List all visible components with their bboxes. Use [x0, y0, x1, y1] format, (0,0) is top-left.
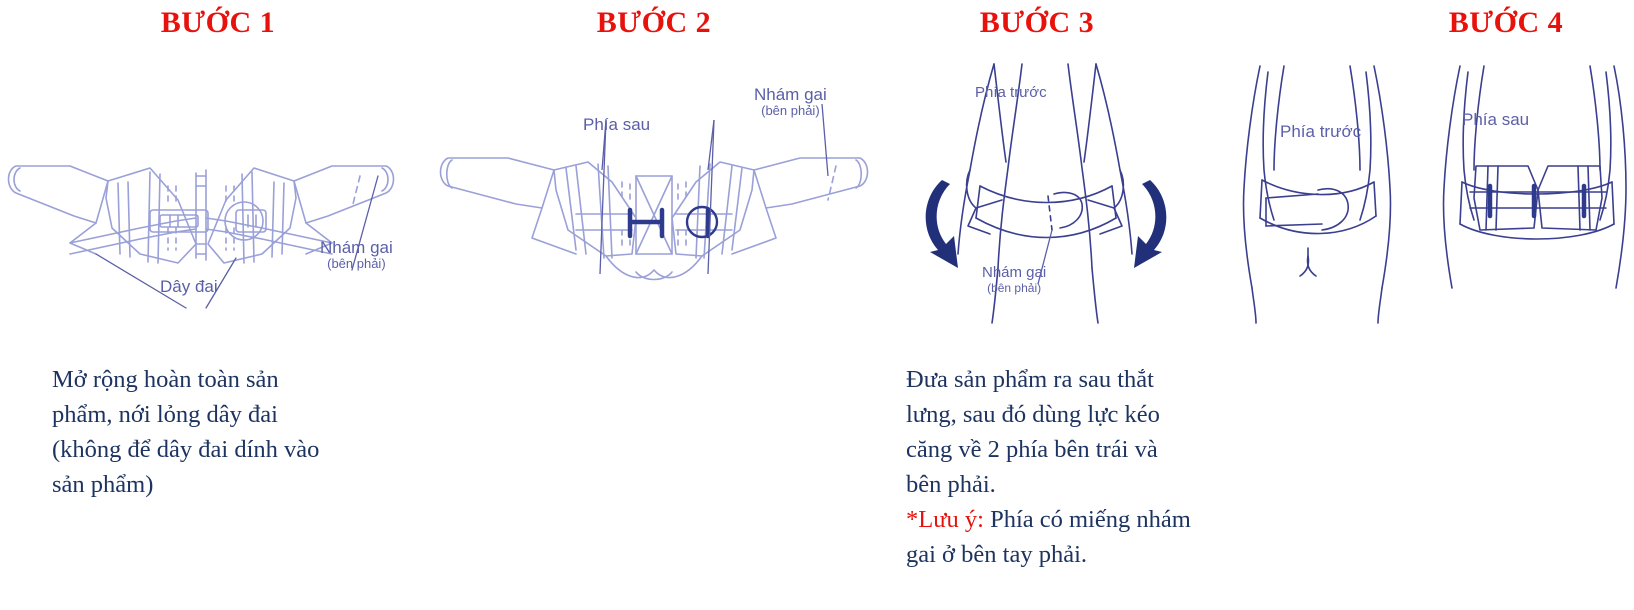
caption-line: Mở rộng hoàn toàn sản — [52, 362, 368, 397]
annotation-nham-gai: Nhám gai (bên phải) — [982, 265, 1046, 295]
step-1-caption: Mở rộng hoàn toàn sản phẩm, nới lỏng dây… — [52, 362, 368, 502]
step-4-title: BƯỚC 4 — [1300, 6, 1634, 40]
caption-line: sản phẩm) — [52, 467, 368, 502]
step-panel-2: BƯỚC 2 — [436, 0, 872, 610]
caption-line: (không để dây đai dính vào — [52, 432, 368, 467]
step-4-illustration — [1222, 58, 1634, 323]
annotation-nham-gai: Nhám gai (bên phải) — [754, 85, 827, 119]
step-1-title: BƯỚC 1 — [0, 6, 436, 40]
step-1-illustration — [0, 58, 436, 323]
step-3-title: BƯỚC 3 — [862, 6, 1212, 40]
instruction-sheet: BƯỚC 1 — [0, 0, 1634, 610]
annotation-day-dai: Dây đai — [160, 277, 218, 296]
step-panel-1: BƯỚC 1 — [0, 0, 436, 610]
step-panel-4: BƯỚC 4 — [1222, 0, 1634, 610]
step-2-title: BƯỚC 2 — [436, 6, 872, 40]
annotation-phia-sau: Phía sau — [1462, 110, 1529, 129]
annotation-phia-truoc: Phía trước — [1280, 122, 1361, 141]
annotation-phia-truoc: Phía trước — [975, 85, 1047, 102]
caption-line: phẩm, nới lỏng dây đai — [52, 397, 368, 432]
step-3-illustration — [872, 58, 1222, 323]
step-panel-3: BƯỚC 3 — [872, 0, 1222, 610]
annotation-nham-gai: Nhám gai (bên phải) — [320, 238, 393, 272]
annotation-phia-sau: Phía sau — [583, 115, 650, 134]
